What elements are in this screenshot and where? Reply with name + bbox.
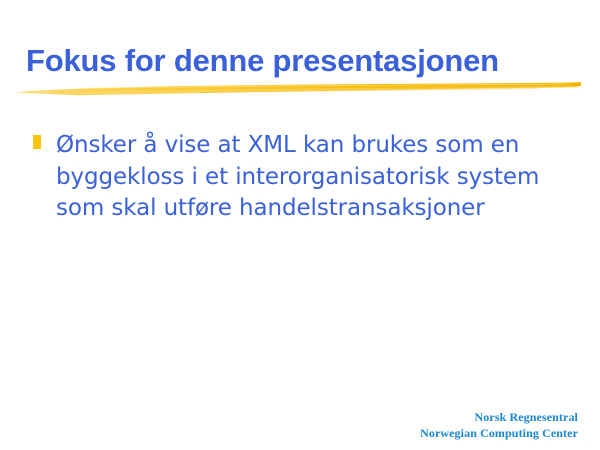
footer-line-norwegian: Norsk Regnesentral xyxy=(420,409,578,425)
presentation-slide: Fokus for denne presentasjonen xyxy=(0,0,600,450)
slide-title: Fokus for denne presentasjonen xyxy=(26,43,574,79)
bullet-text: Ønsker å vise at XML kan brukes som en b… xyxy=(56,132,539,221)
slide-body: Ønsker å vise at XML kan brukes som en b… xyxy=(33,130,573,225)
footer-line-english: Norwegian Computing Center xyxy=(420,425,578,441)
slide-footer: Norsk Regnesentral Norwegian Computing C… xyxy=(420,409,578,441)
list-item: Ønsker å vise at XML kan brukes som en b… xyxy=(33,130,573,225)
title-divider-brush-stroke xyxy=(18,74,584,106)
square-bullet-icon xyxy=(33,135,41,149)
